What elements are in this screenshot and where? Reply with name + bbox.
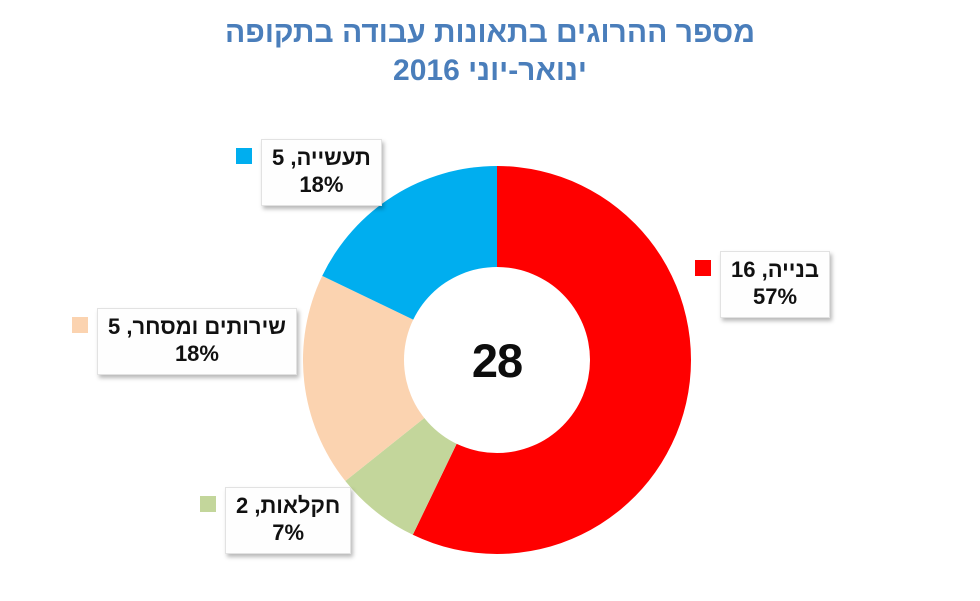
callout-industry-percent: 18%	[272, 172, 371, 199]
callout-industry[interactable]: תעשייה, 5 18%	[236, 139, 382, 206]
legend-swatch-services-and-commerce	[72, 317, 88, 333]
callout-agriculture[interactable]: חקלאות, 2 7%	[200, 487, 351, 554]
legend-swatch-agriculture	[200, 496, 216, 512]
callout-box-construction: בנייה, 16 57%	[720, 251, 830, 318]
callout-construction-label: בנייה, 16	[731, 257, 819, 284]
chart-canvas: מספר ההרוגים בתאונות עבודה בתקופה ינואר-…	[0, 0, 980, 601]
donut-svg	[303, 166, 691, 554]
callout-box-services-and-commerce: שירותים ומסחר, 5 18%	[97, 308, 297, 375]
callout-agriculture-label: חקלאות, 2	[236, 493, 340, 520]
callout-industry-label: תעשייה, 5	[272, 145, 371, 172]
callout-construction-percent: 57%	[731, 284, 819, 311]
chart-title: מספר ההרוגים בתאונות עבודה בתקופה ינואר-…	[0, 14, 980, 91]
callout-construction[interactable]: בנייה, 16 57%	[695, 251, 830, 318]
donut-hole	[404, 267, 590, 453]
callout-services-and-commerce[interactable]: שירותים ומסחר, 5 18%	[72, 308, 297, 375]
callout-services-and-commerce-label: שירותים ומסחר, 5	[108, 314, 286, 341]
callout-agriculture-percent: 7%	[236, 520, 340, 547]
legend-swatch-industry	[236, 148, 252, 164]
callout-box-agriculture: חקלאות, 2 7%	[225, 487, 351, 554]
donut-chart: 28	[303, 166, 691, 554]
legend-swatch-construction	[695, 260, 711, 276]
callout-box-industry: תעשייה, 5 18%	[261, 139, 382, 206]
callout-services-and-commerce-percent: 18%	[108, 341, 286, 368]
